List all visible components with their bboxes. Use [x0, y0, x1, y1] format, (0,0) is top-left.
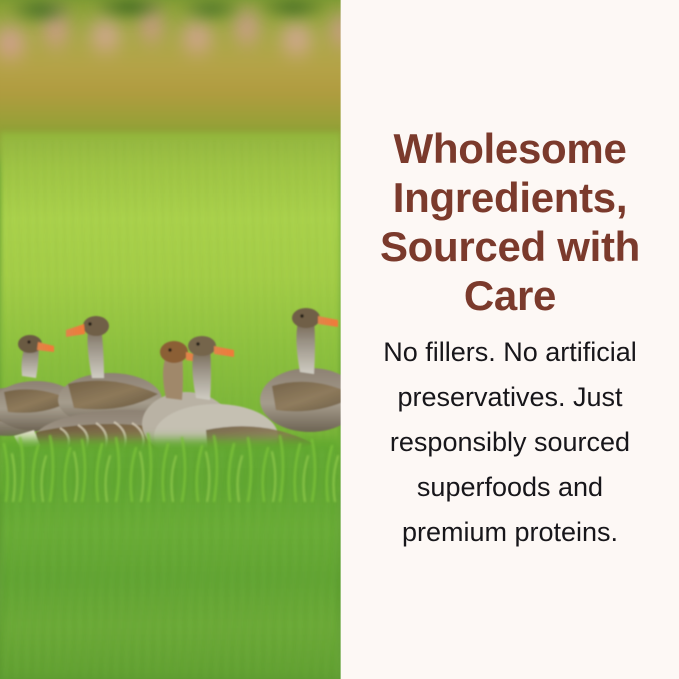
page-title: Wholesome Ingredients, Sourced with Care: [360, 124, 660, 320]
product-feature-banner: Wholesome Ingredients, Sourced with Care…: [0, 0, 679, 679]
supporting-copy: No fillers. No artificial preservatives.…: [364, 330, 656, 555]
message-panel: Wholesome Ingredients, Sourced with Care…: [341, 0, 679, 679]
grass-blades-foreground: [0, 392, 341, 502]
geese-meadow-photo: [0, 0, 341, 679]
